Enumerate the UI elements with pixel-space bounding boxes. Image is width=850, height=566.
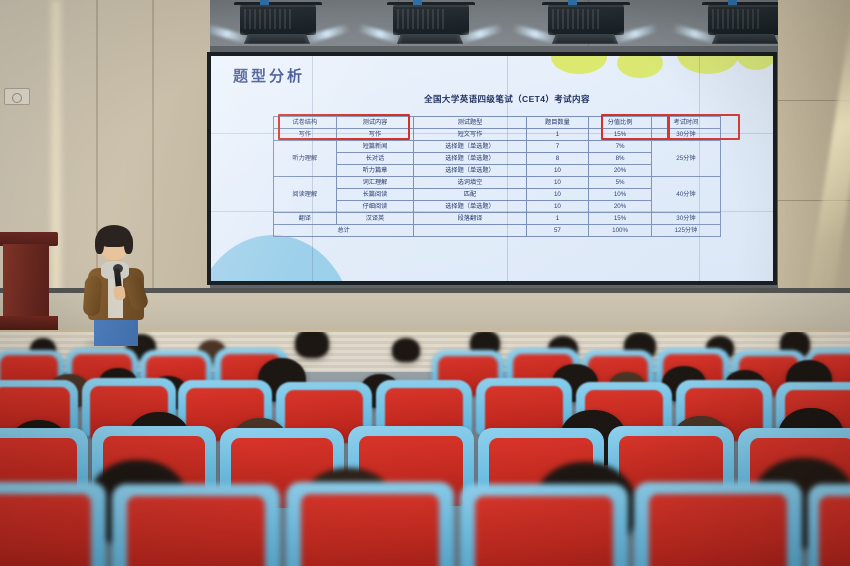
- light-lens: [397, 34, 463, 44]
- cell-content: 短篇新闻: [336, 141, 414, 153]
- presenter-hair-side: [95, 234, 104, 254]
- videowall-seam: [507, 56, 508, 281]
- projection-screen[interactable]: 题型分析 全国大学英语四级笔试（CET4）考试内容 试卷结构 测试内容 测试题型…: [211, 56, 773, 281]
- light-lens: [244, 34, 310, 44]
- presenter-left-arm: [83, 275, 103, 316]
- col-header-weight: 分值比例: [589, 117, 652, 129]
- videowall-seam: [699, 56, 700, 281]
- col-header-count: 题目数量: [526, 117, 589, 129]
- cell-weight: 5%: [589, 177, 652, 189]
- cell-total-count: 57: [526, 225, 589, 237]
- videowall-seam: [211, 133, 773, 134]
- table-header-row: 试卷结构 测试内容 测试题型 题目数量 分值比例 考试时间: [274, 117, 721, 129]
- cell-total-weight: 100%: [589, 225, 652, 237]
- cell-total-label: 总计: [274, 225, 414, 237]
- lecture-hall-scene: 题型分析 全国大学英语四级笔试（CET4）考试内容 试卷结构 测试内容 测试题型…: [0, 0, 850, 566]
- cell-count: 10: [526, 165, 589, 177]
- audience-head: [392, 338, 420, 362]
- cell-qtype: 选择题（单选题）: [414, 153, 526, 165]
- projection-screen-frame: 题型分析 全国大学英语四级笔试（CET4）考试内容 试卷结构 测试内容 测试题型…: [207, 52, 777, 285]
- cell-content: 长篇阅读: [336, 189, 414, 201]
- seat[interactable]: [634, 482, 802, 566]
- cell-time: 25分钟: [651, 141, 720, 177]
- cell-content: 长对话: [336, 153, 414, 165]
- light-lens: [712, 34, 778, 44]
- cell-qtype: 匹配: [414, 189, 526, 201]
- cell-qtype: 选择题（单选题）: [414, 165, 526, 177]
- seat-cushion: [0, 494, 91, 566]
- cell-time: 40分钟: [651, 177, 720, 213]
- audience-seating: [0, 332, 850, 566]
- videowall-seam: [312, 56, 313, 281]
- cell-content: 词汇理解: [336, 177, 414, 189]
- cell-total-qtype: [414, 225, 526, 237]
- light-body: [548, 5, 624, 35]
- cell-structure: 听力理解: [274, 141, 337, 177]
- lectern: [0, 232, 58, 330]
- cell-weight: 20%: [589, 165, 652, 177]
- cell-content: 听力篇章: [336, 165, 414, 177]
- seat[interactable]: [286, 482, 454, 566]
- table-body: 写作 写作 短文写作 1 15% 30分钟 听力理解 短篇新闻 选择题（单选题）…: [274, 129, 721, 237]
- col-header-time: 考试时间: [651, 117, 720, 129]
- table-row: 翻译 汉译英 段落翻译 1 15% 30分钟: [274, 213, 721, 225]
- cell-qtype: 选词填空: [414, 177, 526, 189]
- presenter-hair-side: [124, 234, 133, 254]
- table-row: 阅读理解 词汇理解 选词填空 10 5% 40分钟: [274, 177, 721, 189]
- slide-title: 题型分析: [233, 65, 305, 86]
- col-header-content: 测试内容: [336, 117, 414, 129]
- ceiling-light: [232, 0, 324, 52]
- light-body: [393, 5, 469, 35]
- cell-count: 1: [526, 129, 589, 141]
- table-row: 听力理解 短篇新闻 选择题（单选题） 7 7% 25分钟: [274, 141, 721, 153]
- cell-qtype: 段落翻译: [414, 213, 526, 225]
- wall-outlet-plate: [4, 88, 30, 105]
- seat-cushion: [819, 496, 850, 566]
- cell-count: 10: [526, 189, 589, 201]
- cell-qtype: 短文写作: [414, 129, 526, 141]
- col-header-structure: 试卷结构: [274, 117, 337, 129]
- ceiling-light: [540, 0, 632, 52]
- cell-structure: 翻译: [274, 213, 337, 225]
- seat-cushion: [127, 496, 265, 566]
- cell-content: 汉译英: [336, 213, 414, 225]
- seat[interactable]: [112, 484, 280, 566]
- audience-head: [295, 332, 329, 358]
- videowall-seam: [211, 211, 773, 212]
- light-lens: [552, 34, 618, 44]
- seat-cushion: [649, 494, 787, 566]
- cet4-structure-table: 试卷结构 测试内容 测试题型 题目数量 分值比例 考试时间 写作 写作 短文写作: [273, 116, 721, 237]
- cell-qtype: 选择题（单选题）: [414, 141, 526, 153]
- ceiling-light: [385, 0, 477, 52]
- presenter-jeans: [94, 316, 138, 346]
- cell-weight: 8%: [589, 153, 652, 165]
- table-row: 写作 写作 短文写作 1 15% 30分钟: [274, 129, 721, 141]
- lectern-column: [3, 244, 49, 318]
- slide-content: 题型分析 全国大学英语四级笔试（CET4）考试内容 试卷结构 测试内容 测试题型…: [211, 56, 773, 281]
- seat[interactable]: [0, 482, 106, 566]
- seat[interactable]: [808, 484, 850, 566]
- lectern-base: [0, 316, 58, 330]
- presenter-hand: [113, 285, 126, 300]
- cell-content: 写作: [336, 129, 414, 141]
- cell-weight: 10%: [589, 189, 652, 201]
- col-header-qtype: 测试题型: [414, 117, 526, 129]
- cell-count: 10: [526, 177, 589, 189]
- cell-total-time: 125分钟: [651, 225, 720, 237]
- cell-count: 8: [526, 153, 589, 165]
- cell-time: 30分钟: [651, 213, 720, 225]
- cell-weight: 15%: [589, 129, 652, 141]
- seat-cushion: [475, 496, 613, 566]
- cell-count: 1: [526, 213, 589, 225]
- cell-time: 30分钟: [651, 129, 720, 141]
- light-body: [240, 5, 316, 35]
- cell-structure: 写作: [274, 129, 337, 141]
- light-body: [708, 5, 784, 35]
- slide-subtitle: 全国大学英语四级笔试（CET4）考试内容: [211, 93, 773, 105]
- table-total-row: 总计 57 100% 125分钟: [274, 225, 721, 237]
- presenter: [76, 228, 162, 346]
- seat[interactable]: [460, 484, 628, 566]
- cell-weight: 15%: [589, 213, 652, 225]
- cell-structure: 阅读理解: [274, 177, 337, 213]
- cell-count: 7: [526, 141, 589, 153]
- cell-weight: 7%: [589, 141, 652, 153]
- seat-cushion: [301, 494, 439, 566]
